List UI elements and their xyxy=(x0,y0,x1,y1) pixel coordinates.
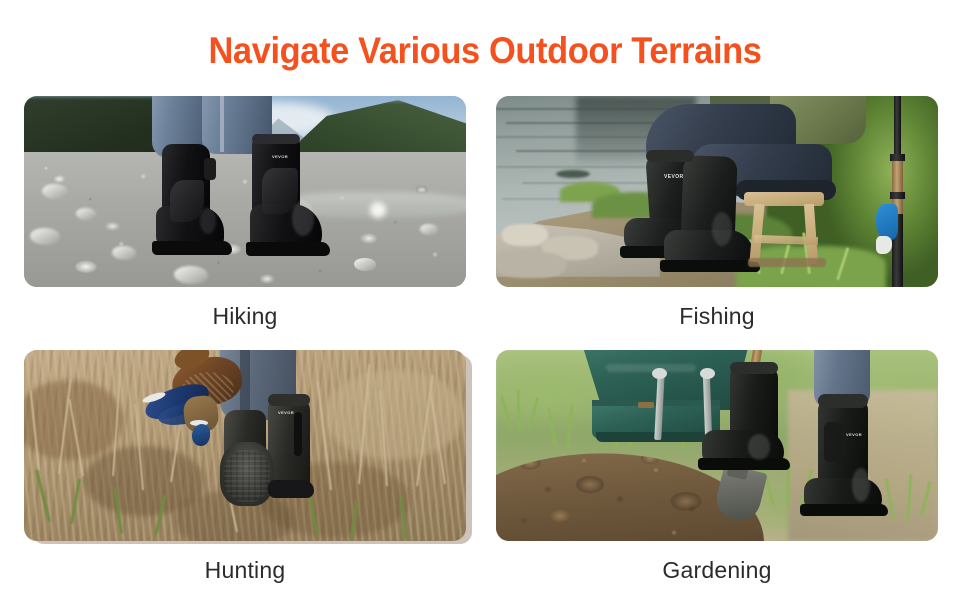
caption-gardening: Gardening xyxy=(496,557,938,584)
terrain-card-hiking[interactable]: VEVOR Hiking xyxy=(24,96,466,330)
terrain-grid: VEVOR Hiking xyxy=(24,96,946,586)
terrain-card-gardening[interactable]: VEVOR Gardening xyxy=(496,350,938,584)
boot-brand-logo: VEVOR xyxy=(272,154,288,159)
boot-brand-logo: VEVOR xyxy=(664,174,684,180)
caption-fishing: Fishing xyxy=(496,303,938,330)
photo-hiking: VEVOR xyxy=(24,96,466,287)
page-title: Navigate Various Outdoor Terrains xyxy=(34,30,936,72)
photo-gardening: VEVOR xyxy=(496,350,938,541)
caption-hunting: Hunting xyxy=(24,557,466,584)
photo-hunting: VEVOR xyxy=(24,350,466,541)
terrain-card-fishing[interactable]: VEVOR Fishing xyxy=(496,96,938,330)
caption-hiking: Hiking xyxy=(24,303,466,330)
boot-brand-logo: VEVOR xyxy=(278,410,294,415)
photo-fishing: VEVOR xyxy=(496,96,938,287)
boot-brand-logo: VEVOR xyxy=(846,432,862,437)
terrain-card-hunting[interactable]: VEVOR Hunting xyxy=(24,350,466,584)
